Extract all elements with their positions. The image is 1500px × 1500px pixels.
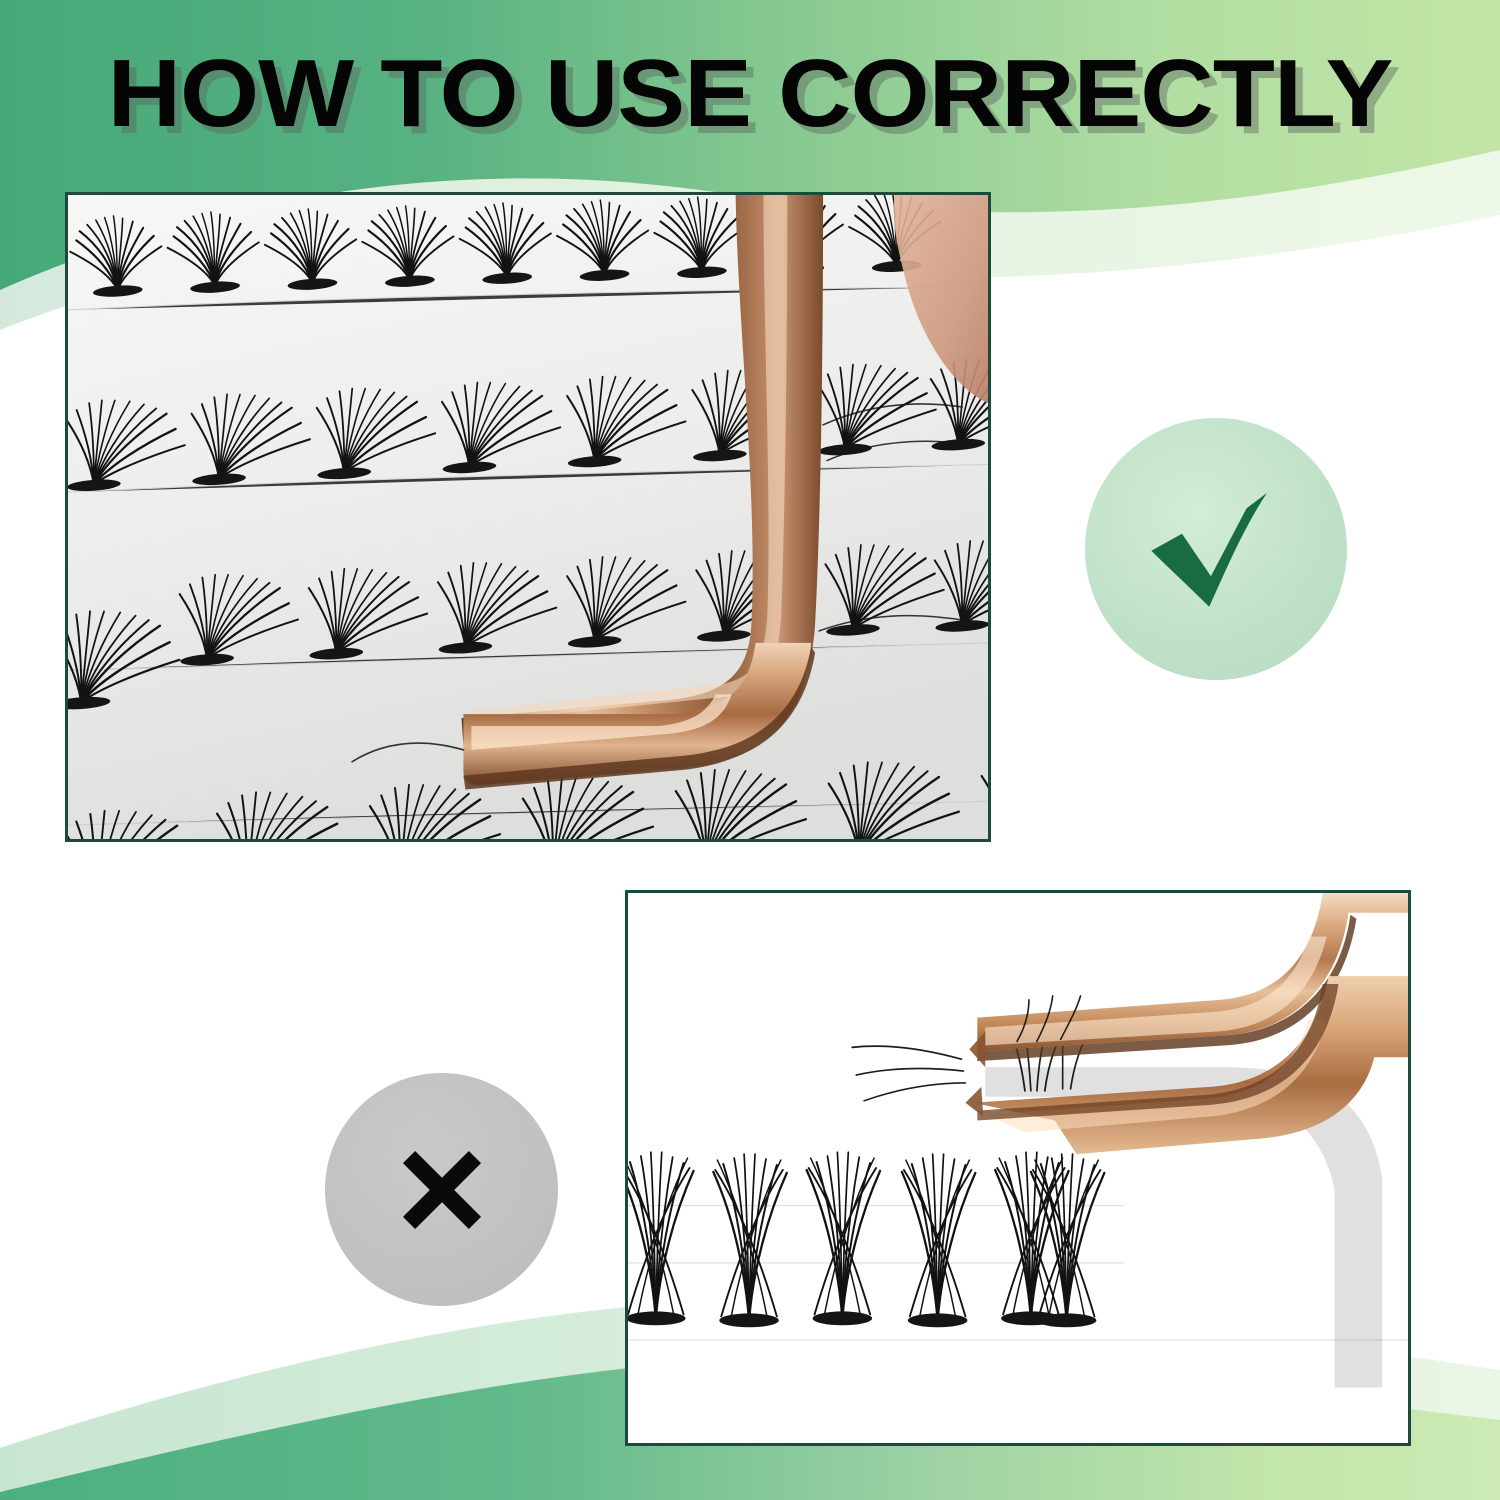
- photo-panel-wrong: [625, 890, 1411, 1446]
- how-to-use-infographic: HOW TO USE CORRECTLY: [0, 0, 1500, 1500]
- page-title: HOW TO USE CORRECTLY: [0, 46, 1500, 142]
- cross-mark-icon: [381, 1129, 503, 1251]
- status-badge-wrong: [325, 1073, 558, 1306]
- photo-panel-correct: [65, 192, 991, 842]
- check-mark-icon: [1131, 464, 1301, 634]
- status-badge-correct: [1085, 418, 1347, 680]
- photo-correct-usage: [68, 195, 988, 839]
- photo-wrong-usage: [628, 893, 1408, 1443]
